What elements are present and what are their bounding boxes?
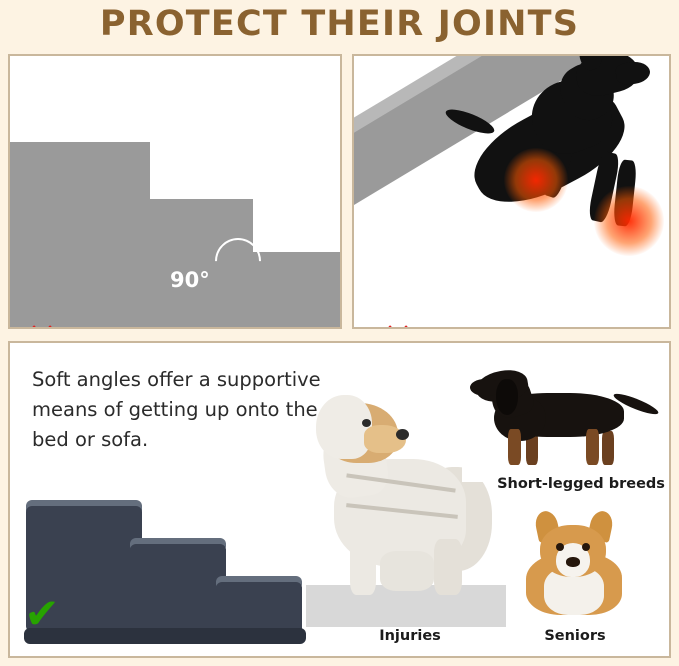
dachshund-rear-leg — [586, 429, 599, 465]
cross-mark-icon: ✖ — [20, 320, 64, 329]
caption-short-legged-breeds: Short-legged breeds — [496, 475, 666, 494]
check-mark-icon: ✔ — [22, 594, 62, 634]
dachshund-photo — [462, 357, 662, 482]
dog-front-leg — [350, 539, 376, 595]
dog-eye — [362, 419, 371, 427]
dog-snout-silhouette — [615, 60, 652, 87]
corgi-left-eye — [556, 543, 564, 551]
pain-glow-back-icon — [594, 186, 664, 256]
foam-step-2 — [130, 544, 226, 636]
dachshund-ear — [496, 379, 518, 415]
stairs-panel: 90° ✖ — [8, 54, 342, 329]
corgi-right-eye — [582, 543, 590, 551]
dog-nose — [396, 429, 409, 440]
solution-description: Soft angles offer a supportive means of … — [32, 365, 332, 455]
dachshund-front-leg — [508, 429, 521, 465]
dachshund-rear-far-leg — [602, 431, 614, 465]
stair-step-low — [253, 252, 342, 328]
caption-seniors: Seniors — [510, 627, 640, 646]
stair-step-tall — [10, 142, 150, 328]
page-title: PROTECT THEIR JOINTS — [0, 2, 679, 46]
caption-injuries: Injuries — [340, 627, 480, 646]
ramp-panel: ✖ — [352, 54, 671, 329]
cross-mark-icon: ✖ — [376, 320, 420, 329]
corgi-nose — [566, 557, 580, 567]
infographic-page: PROTECT THEIR JOINTS 90° ✖ ✖ Soft angles… — [0, 0, 679, 666]
dog-hood — [316, 395, 372, 459]
foam-pet-steps-product — [20, 478, 320, 653]
foam-base — [24, 628, 306, 644]
pain-glow-front-icon — [504, 148, 568, 212]
dog-rear-leg — [434, 539, 462, 595]
dog-mid-leg — [380, 551, 434, 591]
angle-label: 90° — [170, 268, 210, 292]
photo-floor — [306, 585, 506, 627]
solution-panel: Soft angles offer a supportive means of … — [8, 341, 671, 658]
corgi-photo — [510, 503, 640, 627]
